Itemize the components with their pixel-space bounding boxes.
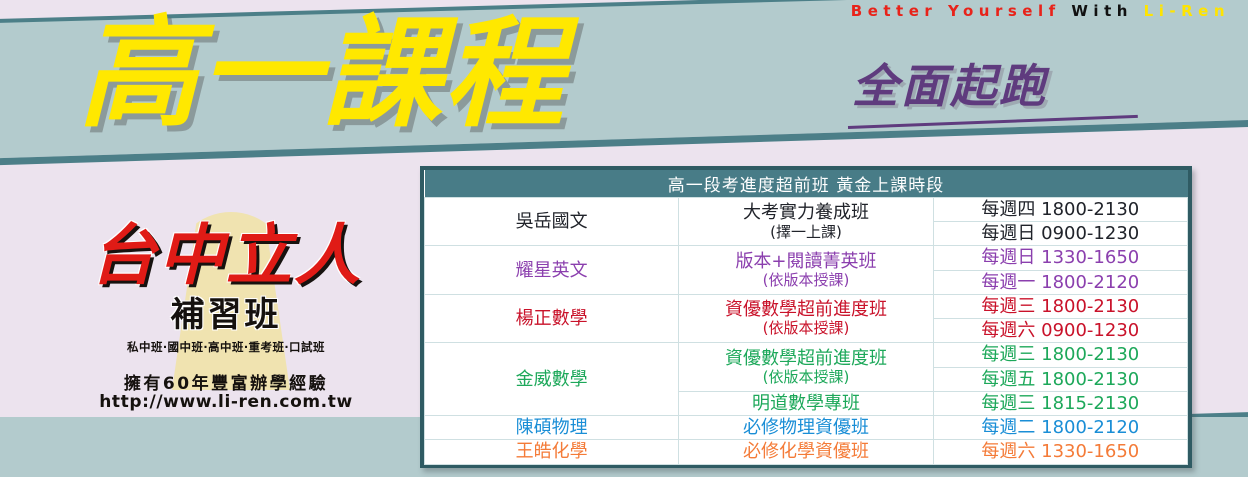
cell-teacher: 楊正數學 bbox=[425, 294, 679, 342]
course-name: 資優數學超前進度班 bbox=[725, 299, 887, 320]
cell-teacher: 王皓化學 bbox=[425, 440, 679, 464]
logo-subname: 補習班 bbox=[46, 298, 406, 332]
cell-time: 每週三 1815-2130 bbox=[933, 391, 1187, 415]
schedule-table-body: 吳岳國文大考實力養成班(擇一上課)每週四 1800-2130每週日 0900-1… bbox=[425, 198, 1188, 465]
time-slot: 每週六 1330-1650 bbox=[946, 441, 1174, 462]
course-note: (依版本授課) bbox=[683, 272, 928, 290]
table-row: 王皓化學必修化學資優班每週六 1330-1650 bbox=[425, 440, 1188, 464]
cell-course: 必修物理資優班 bbox=[679, 416, 933, 440]
page-title: 高一課程 bbox=[78, 14, 566, 134]
tagline-part-red: Better Yourself bbox=[851, 2, 1061, 20]
schedule-table: 高一段考進度超前班 黃金上課時段 吳岳國文大考實力養成班(擇一上課)每週四 18… bbox=[424, 170, 1188, 465]
cell-course: 資優數學超前進度班(依版本授課) bbox=[679, 294, 933, 342]
cell-time: 每週日 0900-1230 bbox=[933, 222, 1187, 246]
brand-logo: 台中立人 補習班 私中班‧國中班‧高中班‧重考班‧口試班 擁有60年豐富辦學經驗… bbox=[46, 206, 406, 431]
time-slot: 每週五 1800-2130 bbox=[946, 369, 1174, 390]
time-slot: 每週日 1330-1650 bbox=[946, 247, 1174, 268]
logo-website-url[interactable]: http://www.li-ren.com.tw bbox=[46, 392, 406, 412]
table-row: 耀星英文版本+閱讀菁英班(依版本授課)每週日 1330-1650 bbox=[425, 246, 1188, 270]
schedule-table-card: 高一段考進度超前班 黃金上課時段 吳岳國文大考實力養成班(擇一上課)每週四 18… bbox=[420, 166, 1192, 468]
cell-teacher: 陳碩物理 bbox=[425, 416, 679, 440]
cell-time: 每週四 1800-2130 bbox=[933, 198, 1187, 222]
tagline-part-black: With bbox=[1071, 2, 1133, 20]
cell-time: 每週三 1800-2130 bbox=[933, 294, 1187, 318]
table-row: 楊正數學資優數學超前進度班(依版本授課)每週三 1800-2130 bbox=[425, 294, 1188, 318]
cell-course: 資優數學超前進度班(依版本授課) bbox=[679, 343, 933, 391]
time-slot: 每週日 0900-1230 bbox=[946, 223, 1174, 244]
time-slot: 每週三 1800-2130 bbox=[946, 344, 1174, 365]
cell-time: 每週一 1800-2120 bbox=[933, 270, 1187, 294]
time-slot: 每週六 0900-1230 bbox=[946, 320, 1174, 341]
course-name: 明道數學專班 bbox=[752, 393, 860, 414]
table-row: 金威數學資優數學超前進度班(依版本授課)每週三 1800-2130 bbox=[425, 343, 1188, 367]
poster-canvas: Better Yourself With Li-Ren 高一課程 全面起跑 台中… bbox=[0, 0, 1248, 477]
cell-course: 版本+閱讀菁英班(依版本授課) bbox=[679, 246, 933, 294]
table-row: 陳碩物理必修物理資優班每週二 1800-2120 bbox=[425, 416, 1188, 440]
cell-teacher: 金威數學 bbox=[425, 343, 679, 416]
course-name: 版本+閱讀菁英班 bbox=[735, 251, 876, 272]
schedule-table-head: 高一段考進度超前班 黃金上課時段 bbox=[425, 170, 1188, 198]
time-slot: 每週三 1800-2130 bbox=[946, 296, 1174, 317]
cell-course: 大考實力養成班(擇一上課) bbox=[679, 198, 933, 246]
course-note: (擇一上課) bbox=[683, 224, 928, 242]
course-name: 必修化學資優班 bbox=[743, 441, 869, 462]
cell-teacher: 耀星英文 bbox=[425, 246, 679, 294]
course-name: 大考實力養成班 bbox=[743, 202, 869, 223]
course-note: (依版本授課) bbox=[683, 369, 928, 387]
logo-name: 台中立人 bbox=[46, 222, 406, 288]
logo-class-types: 私中班‧國中班‧高中班‧重考班‧口試班 bbox=[46, 339, 406, 355]
time-slot: 每週一 1800-2120 bbox=[946, 272, 1174, 293]
cell-time: 每週三 1800-2130 bbox=[933, 343, 1187, 367]
cell-time: 每週日 1330-1650 bbox=[933, 246, 1187, 270]
table-row: 吳岳國文大考實力養成班(擇一上課)每週四 1800-2130 bbox=[425, 198, 1188, 222]
schedule-header-title: 高一段考進度超前班 黃金上課時段 bbox=[425, 170, 1188, 198]
logo-experience: 擁有60年豐富辦學經驗 bbox=[46, 369, 406, 394]
course-name: 必修物理資優班 bbox=[743, 417, 869, 438]
cell-course: 明道數學專班 bbox=[679, 391, 933, 415]
tagline-part-yellow: Li-Ren bbox=[1144, 2, 1230, 20]
time-slot: 每週三 1815-2130 bbox=[946, 393, 1174, 414]
cell-course: 必修化學資優班 bbox=[679, 440, 933, 464]
time-slot: 每週二 1800-2120 bbox=[946, 417, 1174, 438]
cell-time: 每週六 0900-1230 bbox=[933, 319, 1187, 343]
schedule-header-row: 高一段考進度超前班 黃金上課時段 bbox=[425, 170, 1188, 198]
cell-time: 每週六 1330-1650 bbox=[933, 440, 1187, 464]
cell-time: 每週二 1800-2120 bbox=[933, 416, 1187, 440]
page-subtitle: 全面起跑 bbox=[852, 63, 1048, 109]
course-name: 資優數學超前進度班 bbox=[725, 348, 887, 369]
cell-time: 每週五 1800-2130 bbox=[933, 367, 1187, 391]
time-slot: 每週四 1800-2130 bbox=[946, 199, 1174, 220]
course-note: (依版本授課) bbox=[683, 320, 928, 338]
cell-teacher: 吳岳國文 bbox=[425, 198, 679, 246]
